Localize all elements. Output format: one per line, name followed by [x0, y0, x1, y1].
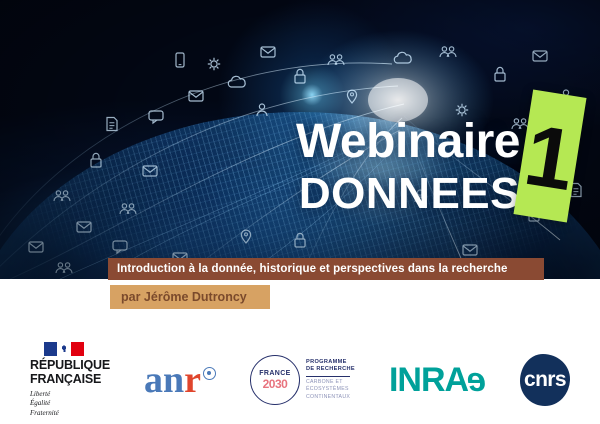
author-text: par Jérôme Dutroncy [110, 290, 247, 304]
rf-name-line2: FRANÇAISE [30, 373, 101, 387]
f2030-heading-line2: DE RECHERCHE [306, 366, 355, 374]
partner-logos-row: RÉPUBLIQUE FRANÇAISE Liberté Égalité Fra… [0, 336, 600, 424]
author-bar: par Jérôme Dutroncy [110, 285, 270, 309]
logo-inrae: INRA e [389, 363, 486, 397]
rf-motto-line1: Liberté [30, 390, 59, 399]
cnrs-text: cnrs [524, 368, 566, 392]
f2030-divider [306, 376, 350, 377]
subtitle-bar: Introduction à la donnée, historique et … [108, 258, 544, 280]
french-flag-icon [44, 342, 84, 356]
f2030-heading-line1: PROGRAMME [306, 359, 355, 367]
webinar-title-slide: Webinaire DONNEES 1 Introduction à la do… [0, 0, 600, 424]
inrae-leaf-mark: e [468, 363, 486, 397]
rf-motto: Liberté Égalité Fraternité [30, 390, 59, 418]
hero-title-donnees: DONNEES [296, 172, 520, 216]
hero-title-webinaire: Webinaire [296, 118, 520, 166]
f2030-sub-line2: ÉCOSYSTÈMES [306, 386, 355, 393]
logo-france-2030: FRANCE 2030 PROGRAMME DE RECHERCHE CARBO… [250, 355, 355, 405]
inrae-text: INRA [389, 363, 468, 397]
rf-motto-line3: Fraternité [30, 409, 59, 418]
registered-trademark-icon [203, 367, 216, 380]
hero-title-block: Webinaire DONNEES [296, 118, 520, 216]
rf-motto-line2: Égalité [30, 399, 59, 408]
france-2030-emblem: FRANCE 2030 [250, 355, 300, 405]
episode-number-label: 1 [519, 112, 580, 204]
rf-name-line1: RÉPUBLIQUE [30, 359, 110, 373]
hero-banner: Webinaire DONNEES 1 [0, 0, 600, 279]
france-2030-year: 2030 [263, 378, 288, 390]
france-2030-caption: PROGRAMME DE RECHERCHE CARBONE ET ÉCOSYS… [306, 359, 355, 401]
logo-republique-francaise: RÉPUBLIQUE FRANÇAISE Liberté Égalité Fra… [30, 342, 110, 418]
logo-anr: an r [144, 363, 216, 397]
france-2030-top: FRANCE [259, 370, 291, 377]
anr-text-red: r [184, 363, 201, 397]
f2030-sub-line3: CONTINENTAUX [306, 394, 355, 401]
anr-text-blue: an [144, 363, 184, 397]
subtitle-text: Introduction à la donnée, historique et … [108, 263, 507, 275]
logo-cnrs: cnrs [520, 354, 570, 406]
